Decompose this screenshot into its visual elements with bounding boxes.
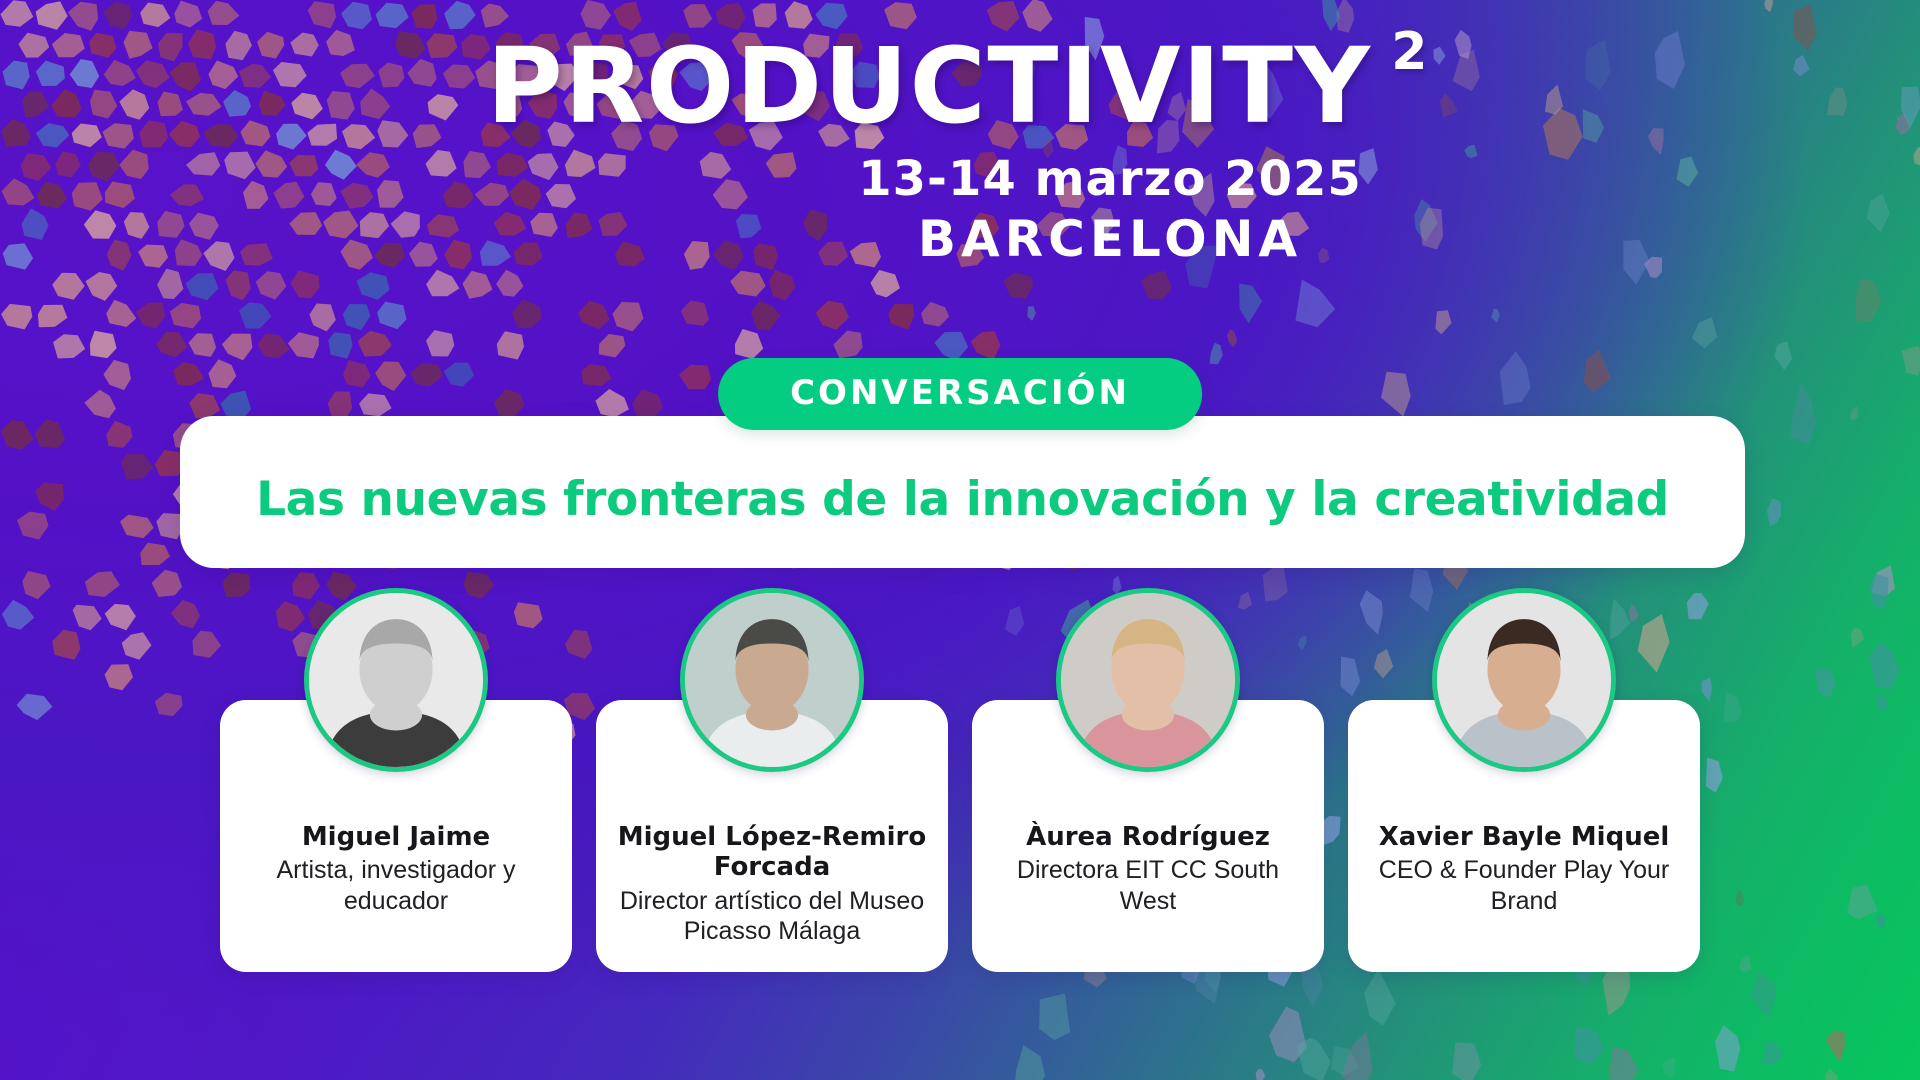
speaker-card: Miguel López-Remiro ForcadaDirector artí…: [596, 700, 948, 972]
speaker-card: Xavier Bayle MiquelCEO & Founder Play Yo…: [1348, 700, 1700, 972]
speaker-role: Directora EIT CC South West: [988, 855, 1308, 916]
speaker-card: Àurea RodríguezDirectora EIT CC South We…: [972, 700, 1324, 972]
speaker-role: Artista, investigador y educador: [236, 855, 556, 916]
event-logo-header: PRODUCTIVITY 2 13-14 marzo 2025 BARCELON…: [0, 34, 1920, 266]
event-dates: 13-14 marzo 2025: [0, 154, 1920, 205]
speaker-card-text: Miguel JaimeArtista, investigador y educ…: [236, 822, 556, 934]
event-logo-word: PRODUCTIVITY: [487, 25, 1372, 147]
session-title: Las nuevas fronteras de la innovación y …: [216, 474, 1709, 526]
speaker-card: Miguel JaimeArtista, investigador y educ…: [220, 700, 572, 972]
event-city: BARCELONA: [0, 213, 1920, 266]
speaker-photo-miguel-lopez-remiro-forcada: [680, 588, 864, 772]
speaker-card-text: Miguel López-Remiro ForcadaDirector artí…: [612, 822, 932, 965]
speaker-photo-aurea-rodriguez: [1056, 588, 1240, 772]
speaker-photo-xavier-bayle-miquel: [1432, 588, 1616, 772]
event-logo-superscript: 2: [1391, 26, 1427, 78]
speaker-list: Miguel JaimeArtista, investigador y educ…: [0, 700, 1920, 972]
speaker-name: Miguel López-Remiro Forcada: [612, 822, 932, 883]
speaker-name: Xavier Bayle Miquel: [1364, 822, 1684, 852]
speaker-photo-miguel-jaime: [304, 588, 488, 772]
session-type-badge: CONVERSACIÓN: [718, 358, 1202, 430]
session-title-panel: Las nuevas fronteras de la innovación y …: [180, 416, 1745, 568]
speaker-card-text: Àurea RodríguezDirectora EIT CC South We…: [988, 822, 1308, 934]
speaker-name: Àurea Rodríguez: [988, 822, 1308, 852]
speaker-role: Director artístico del Museo Picasso Mál…: [612, 886, 932, 947]
speaker-card-text: Xavier Bayle MiquelCEO & Founder Play Yo…: [1364, 822, 1684, 934]
event-logo: PRODUCTIVITY 2: [487, 34, 1434, 138]
speaker-name: Miguel Jaime: [236, 822, 556, 852]
speaker-role: CEO & Founder Play Your Brand: [1364, 855, 1684, 916]
